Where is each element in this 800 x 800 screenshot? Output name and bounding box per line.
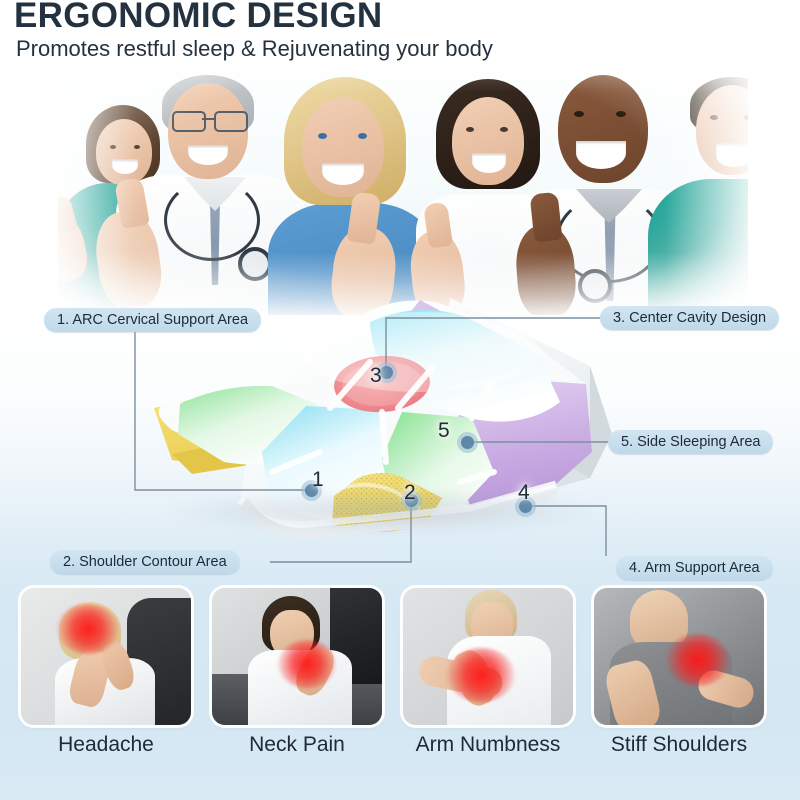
callout-pill-2[interactable]: 2. Shoulder Contour Area	[50, 550, 240, 574]
callout-pill-4[interactable]: 4. Arm Support Area	[616, 556, 773, 580]
number-label-1: 1	[312, 468, 324, 492]
number-label-3: 3	[370, 364, 382, 388]
callout-pill-1[interactable]: 1. ARC Cervical Support Area	[44, 308, 261, 332]
number-label-5: 5	[438, 419, 450, 443]
callout-leader-lines	[0, 0, 800, 800]
marker-5[interactable]	[461, 436, 474, 449]
number-label-4: 4	[518, 481, 530, 505]
number-label-2: 2	[404, 481, 416, 505]
callout-pill-5[interactable]: 5. Side Sleeping Area	[608, 430, 773, 454]
callout-pill-3[interactable]: 3. Center Cavity Design	[600, 306, 779, 330]
infographic-page: 1 2 3 4 5 1. ARC Cervical Support Area 2…	[0, 0, 800, 800]
